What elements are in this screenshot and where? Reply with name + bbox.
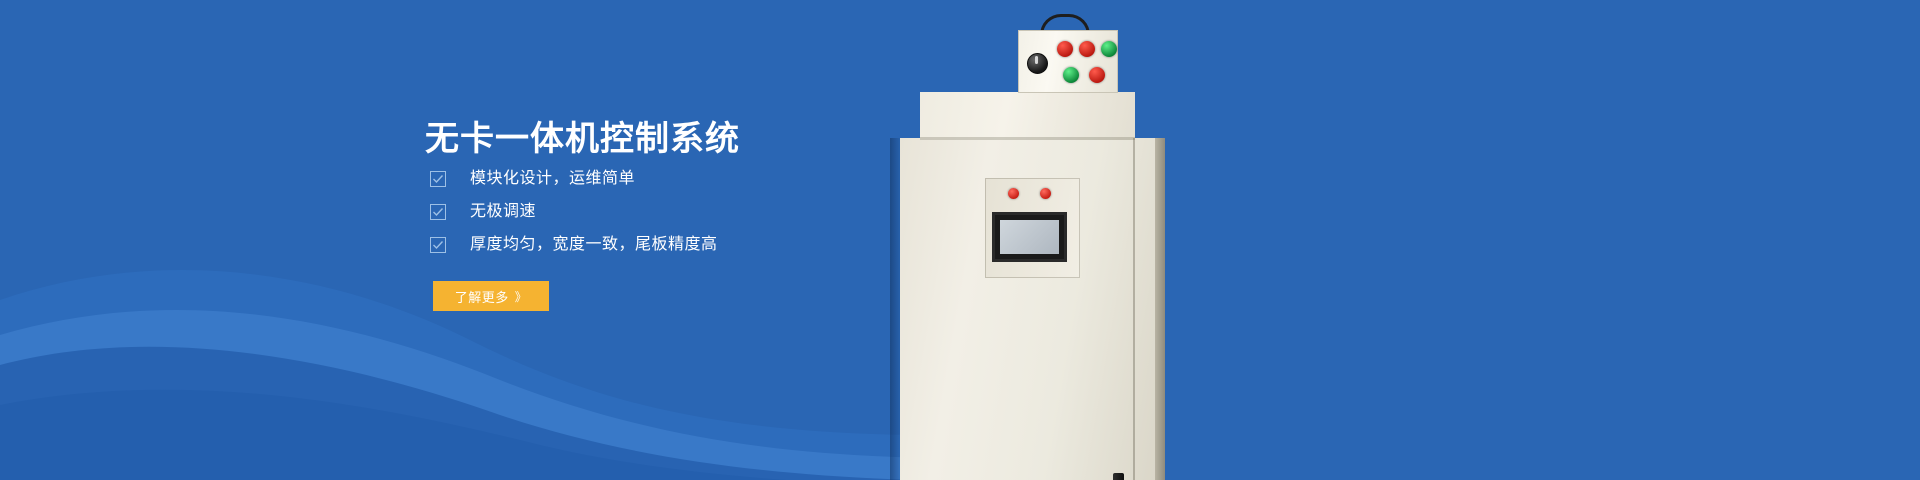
list-item: 无极调速 [430, 195, 718, 228]
push-button-red-3[interactable] [1089, 67, 1105, 83]
feature-label: 无极调速 [470, 195, 536, 228]
page-title: 无卡一体机控制系统 [425, 117, 740, 161]
list-item: 厚度均匀，宽度一致，尾板精度高 [430, 228, 718, 261]
cabinet-lamp-red-2 [1040, 188, 1051, 199]
cabinet-lamp-red-1 [1008, 188, 1019, 199]
control-cabinet-photo [890, 0, 1190, 480]
feature-label: 模块化设计，运维简单 [470, 162, 635, 195]
feature-label: 厚度均匀，宽度一致，尾板精度高 [470, 228, 718, 261]
push-button-red-1[interactable] [1057, 41, 1073, 57]
cabinet-body [900, 138, 1165, 480]
chevron-right-icon: 》 [515, 288, 528, 305]
check-square-icon [430, 237, 446, 253]
cabinet-door-handle[interactable] [1113, 473, 1124, 480]
cabinet-door-seam [1133, 138, 1135, 480]
hmi-touch-screen[interactable] [992, 212, 1067, 262]
check-square-icon [430, 204, 446, 220]
cabinet-hood [920, 92, 1135, 140]
push-button-green-1[interactable] [1101, 41, 1117, 57]
hero-banner: 无卡一体机控制系统 模块化设计，运维简单 无极调速 [0, 0, 1920, 480]
learn-more-button[interactable]: 了解更多 》 [433, 281, 549, 311]
push-button-red-2[interactable] [1079, 41, 1095, 57]
push-button-green-2[interactable] [1063, 67, 1079, 83]
control-box [1018, 30, 1118, 93]
learn-more-label: 了解更多 [455, 287, 509, 306]
list-item: 模块化设计，运维简单 [430, 162, 718, 195]
feature-list: 模块化设计，运维简单 无极调速 厚度均匀，宽度一致，尾板精度高 [430, 162, 718, 261]
selector-knob[interactable] [1027, 53, 1048, 74]
banner-content: 无卡一体机控制系统 模块化设计，运维简单 无极调速 [0, 0, 900, 480]
check-square-icon [430, 171, 446, 187]
